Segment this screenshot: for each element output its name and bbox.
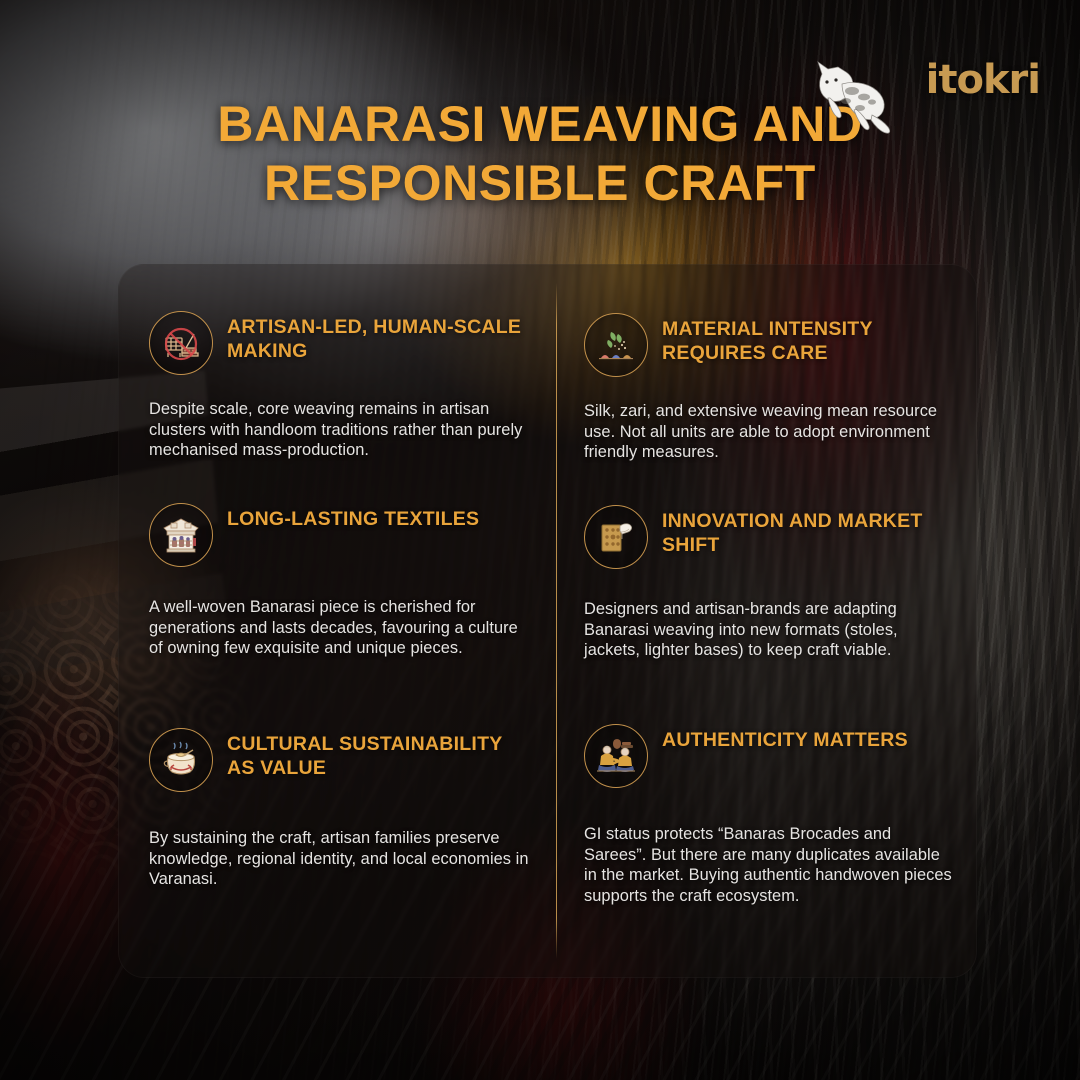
page-title: BANARASI WEAVING AND RESPONSIBLE CRAFT [0, 95, 1080, 213]
card-body: Designers and artisan-brands are adaptin… [584, 599, 954, 661]
brand-wordmark: itokri [926, 60, 1040, 100]
content-panel: ARTISAN-LED, HUMAN-SCALE MAKING Despite … [118, 264, 977, 978]
card-heading: CULTURAL SUSTAINABILITY AS VALUE [227, 728, 527, 780]
header: BANARASI WEAVING AND RESPONSIBLE CRAFT [0, 0, 1080, 264]
card-heading: AUTHENTICITY MATTERS [662, 724, 908, 752]
two-seated-artisans-icon [584, 724, 648, 788]
page-title-line-2: RESPONSIBLE CRAFT [90, 154, 990, 213]
card-artisan-led: ARTISAN-LED, HUMAN-SCALE MAKING Despite … [119, 265, 556, 471]
card-header: AUTHENTICITY MATTERS [584, 686, 954, 788]
card-header: MATERIAL INTENSITY REQUIRES CARE [584, 265, 954, 377]
card-heading: ARTISAN-LED, HUMAN-SCALE MAKING [227, 311, 527, 363]
card-heading: MATERIAL INTENSITY REQUIRES CARE [662, 313, 942, 365]
leaves-and-dye-mounds-icon [584, 313, 648, 377]
card-body: Silk, zari, and extensive weaving mean r… [584, 401, 954, 463]
cat-logo-icon [802, 58, 898, 136]
cards-grid: ARTISAN-LED, HUMAN-SCALE MAKING Despite … [119, 265, 976, 977]
steaming-dye-pot-icon [149, 728, 213, 792]
card-body: Despite scale, core weaving remains in a… [149, 399, 534, 461]
card-material-intensity: MATERIAL INTENSITY REQUIRES CARE Silk, z… [556, 265, 976, 471]
card-innovation-market-shift: INNOVATION AND MARKET SHIFT Designers an… [556, 471, 976, 686]
card-body: By sustaining the craft, artisan familie… [149, 828, 534, 890]
no-factory-machine-icon [149, 311, 213, 375]
card-cultural-sustainability: CULTURAL SUSTAINABILITY AS VALUE By sust… [119, 686, 556, 946]
card-body: GI status protects “Banaras Brocades and… [584, 824, 954, 906]
card-body: A well-woven Banarasi piece is cherished… [149, 597, 534, 659]
card-header: LONG-LASTING TEXTILES [149, 471, 534, 567]
hand-holding-fabric-swatch-icon [584, 505, 648, 569]
card-header: CULTURAL SUSTAINABILITY AS VALUE [149, 686, 534, 792]
card-heading: LONG-LASTING TEXTILES [227, 503, 479, 531]
card-heading: INNOVATION AND MARKET SHIFT [662, 505, 942, 557]
card-header: INNOVATION AND MARKET SHIFT [584, 471, 954, 569]
card-header: ARTISAN-LED, HUMAN-SCALE MAKING [149, 265, 534, 375]
card-long-lasting-textiles: LONG-LASTING TEXTILES A well-woven Banar… [119, 471, 556, 686]
craft-shop-building-icon [149, 503, 213, 567]
card-authenticity-matters: AUTHENTICITY MATTERS GI status protects … [556, 686, 976, 946]
